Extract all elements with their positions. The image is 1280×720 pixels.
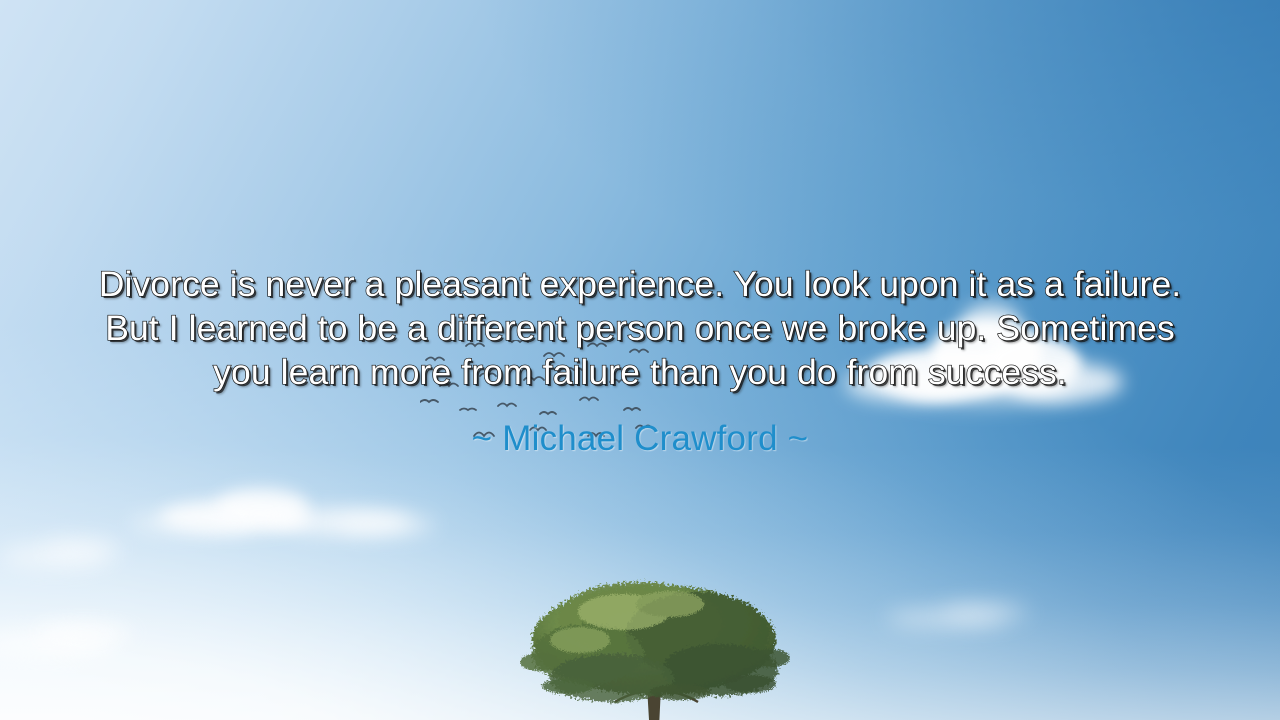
quote-card: Divorce is never a pleasant experience. … bbox=[0, 0, 1280, 720]
quote-text: Divorce is never a pleasant experience. … bbox=[84, 262, 1196, 394]
quote-author: ~ Michael Crawford ~ bbox=[472, 418, 809, 460]
quote-block: Divorce is never a pleasant experience. … bbox=[0, 0, 1280, 720]
